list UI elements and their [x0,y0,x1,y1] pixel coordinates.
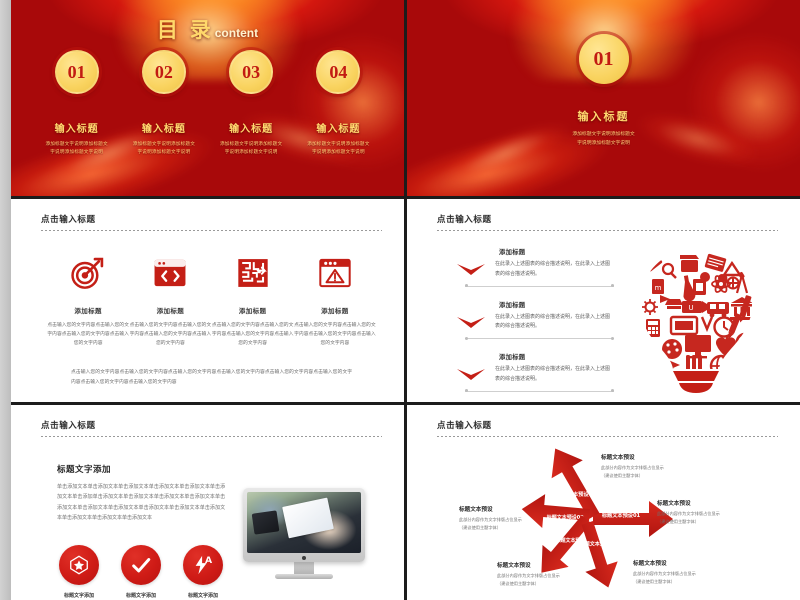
feature-circle-row: 标题文字添加 标题文字添加 [57,545,225,599]
left-gutter [0,0,11,600]
contents-item[interactable]: 02 输入标题 添加标题文字说明添加标题文 字说明添加标题文字说明 [125,50,203,157]
contents-item-title: 输入标题 [212,120,290,135]
business-meeting-photo [247,492,361,553]
heading-dotted-rule [41,436,382,437]
slide-heading: 点击输入标题 [41,419,382,431]
text-column: 标题文字添加 单击添加文本单击添加文本单击添加文本单击添加文本单击添加文本单击添… [41,463,225,599]
desktop-monitor-mockup [243,488,365,579]
monitor-slide-body: 标题文字添加 单击添加文本单击添加文本单击添加文本单击添加文本单击添加文本单击添… [41,463,382,599]
contents-item[interactable]: 03 输入标题 添加标题文字说明添加标题文 字说明添加标题文字说明 [212,50,290,157]
feature-label: 标题文字添加 [119,592,163,599]
radial-arrow-diagram: 标题文本预设01 标题文本预设02 标题文本预设03 [437,441,778,591]
contents-number-badge: 02 [142,50,186,94]
icon-card[interactable]: 添加标题 点击输入您的文字内容点击输入您的文字内容点击输入您的文字内容点击输入您… [294,255,376,348]
monitor-screen [243,488,365,562]
callout-desc: 此部分内容作为文字排版占位显示 （建议使用主题字体） [657,510,753,525]
slide-radial-arrows[interactable]: 点击输入标题 标题文本预设01 [407,405,800,600]
icon-card[interactable]: 添加标题 点击输入您的文字内容点击输入您的文字内容点击输入您的文字内容点击输入您… [47,255,129,348]
monitor-neck [294,562,314,574]
target-icon [47,255,129,291]
bullet-desc: 在此录入上述图表的综合描述说明，在此录入上述图表的综合描述说明。 [495,365,614,385]
contents-title: 目 录content [11,14,404,44]
contents-item[interactable]: 04 输入标题 添加标题文字说明添加标题文 字说明添加标题文字说明 [299,50,377,157]
bullet-desc: 在此录入上述图表的综合描述说明，在此录入上述图表的综合描述说明。 [495,313,614,333]
feature-item[interactable]: A 标题文字添加 [181,545,225,599]
arrow-label-2: 标题文本预设02 [557,490,597,498]
bullet-title: 添加标题 [499,352,614,361]
heading-dotted-rule [437,230,778,231]
callout-title: 标题文本预设 [657,499,753,507]
monitor-base [275,574,333,579]
bullet-title: 添加标题 [499,247,614,256]
icon-card-title: 添加标题 [47,305,129,315]
slide-grid: 目 录content 01 输入标题 添加标题文字说明添加标题文 字说明添加标题… [11,0,800,600]
callout-left[interactable]: 标题文本预设 此部分内容作为文字排版占位显示 （建议使用主题字体） [459,505,555,531]
callout-desc: 此部分内容作为文字排版占位显示 （建议使用主题字体） [601,464,697,479]
contents-item-desc: 添加标题文字说明添加标题文 字说明添加标题文字说明 [299,140,377,157]
contents-item-desc: 添加标题文字说明添加标题文 字说明添加标题文字说明 [38,140,116,157]
contents-title-cn: 目 录 [157,19,214,42]
contents-item-desc: 添加标题文字说明添加标题文 字说明添加标题文字说明 [125,140,203,157]
contents-title-en: content [215,26,258,40]
icon-card[interactable]: 添加标题 点击输入您的文字内容点击输入您的文字内容点击输入您的文字内容点击输入您… [129,255,211,348]
browser-warning-icon [294,255,376,291]
feature-item[interactable]: 标题文字添加 [57,545,101,599]
callout-title: 标题文本预设 [601,453,697,461]
callout-title: 标题文本预设 [633,559,729,567]
slide-section-divider[interactable]: 01 输入标题 添加标题文字说明添加标题文 字说明添加标题文字说明 [407,0,800,196]
slide-heading: 点击输入标题 [41,213,382,225]
contents-item-title: 输入标题 [38,120,116,135]
callout-desc: 此部分内容作为文字排版占位显示 （建议使用主题字体） [497,572,593,587]
bullet-divider [465,391,614,392]
lightbulb-slide-body: 添加标题 在此录入上述图表的综合描述说明，在此录入上述图表的综合描述说明。 [437,247,778,402]
svg-text:U: U [689,304,694,312]
chevron-down-icon [455,313,495,331]
contents-item[interactable]: 01 输入标题 添加标题文字说明添加标题文 字说明添加标题文字说明 [38,50,116,157]
svg-text:m: m [655,284,662,292]
bullet-list: 添加标题 在此录入上述图表的综合描述说明，在此录入上述图表的综合描述说明。 [437,247,614,402]
icon-card-desc: 点击输入您的文字内容点击输入您的文字内容点击输入您的文字内容点击输入您的文字内容 [47,321,129,348]
chevron-down-icon [455,365,495,383]
monitor-logo-dot [302,556,306,560]
bullet-item[interactable]: 添加标题 在此录入上述图表的综合描述说明，在此录入上述图表的综合描述说明。 [455,352,614,392]
heading-dotted-rule [41,230,382,231]
contents-item-desc: 添加标题文字说明添加标题文 字说明添加标题文字说明 [212,140,290,157]
callout-bottom-right[interactable]: 标题文本预设 此部分内容作为文字排版占位显示 （建议使用主题字体） [633,559,729,585]
section-desc: 添加标题文字说明添加标题文 字说明添加标题文字说明 [407,130,800,148]
star-badge-icon [59,545,99,585]
contents-items: 01 输入标题 添加标题文字说明添加标题文 字说明添加标题文字说明 02 输入标… [11,50,404,157]
section-title: 输入标题 [407,108,800,124]
feature-item[interactable]: 标题文字添加 [119,545,163,599]
bullet-item[interactable]: 添加标题 在此录入上述图表的综合描述说明，在此录入上述图表的综合描述说明。 [455,247,614,287]
slide-footer-paragraph: 点击输入您的文字内容点击输入您的文字内容点击输入您的文字内容点击输入您的文字内容… [41,368,382,387]
contents-number-badge: 01 [55,50,99,94]
callout-right[interactable]: 标题文本预设 此部分内容作为文字排版占位显示 （建议使用主题字体） [657,499,753,525]
contents-item-title: 输入标题 [125,120,203,135]
callout-top[interactable]: 标题文本预设 此部分内容作为文字排版占位显示 （建议使用主题字体） [601,453,697,479]
icon-card-title: 添加标题 [294,305,376,315]
flash-a-icon: A [183,545,223,585]
contents-item-title: 输入标题 [299,120,377,135]
bullet-desc: 在此录入上述图表的综合描述说明，在此录入上述图表的综合描述说明。 [495,260,614,280]
heading-dotted-rule [437,436,778,437]
svg-text:A: A [205,555,213,566]
arrow-label-1: 标题文本预设01 [601,511,641,519]
bullet-title: 添加标题 [499,300,614,309]
icon-card[interactable]: 添加标题 点击输入您的文字内容点击输入您的文字内容点击输入您的文字内容点击输入您… [212,255,294,348]
callout-desc: 此部分内容作为文字排版占位显示 （建议使用主题字体） [633,570,729,585]
section-body: 单击添加文本单击添加文本单击添加文本单击添加文本单击添加文本单击添加文本单击添加… [57,482,225,523]
section-number-badge: 01 [579,34,629,84]
slide-thumbnail-sheet: 目 录content 01 输入标题 添加标题文字说明添加标题文 字说明添加标题… [0,0,800,600]
callout-title: 标题文本预设 [459,505,555,513]
icon-card-title: 添加标题 [129,305,211,315]
slide-four-icons[interactable]: 点击输入标题 添 [11,199,404,402]
arrow-label-5: 标题文本预设05 [579,540,617,547]
maze-icon [212,255,294,291]
callout-title: 标题文本预设 [497,561,593,569]
icon-card-desc: 点击输入您的文字内容点击输入您的文字内容点击输入您的文字内容点击输入您的文字内容 [212,321,294,348]
feature-label: 标题文字添加 [181,592,225,599]
callout-desc: 此部分内容作为文字排版占位显示 （建议使用主题字体） [459,516,555,531]
feature-label: 标题文字添加 [57,592,101,599]
bullet-divider [465,338,614,339]
contents-number-badge: 03 [229,50,273,94]
bullet-item[interactable]: 添加标题 在此录入上述图表的综合描述说明，在此录入上述图表的综合描述说明。 [455,300,614,340]
slide-monitor-text[interactable]: 点击输入标题 标题文字添加 单击添加文本单击添加文本单击添加文本单击添加文本单击… [11,405,404,600]
slide-contents[interactable]: 目 录content 01 输入标题 添加标题文字说明添加标题文 字说明添加标题… [11,0,404,196]
bullet-divider [465,286,614,287]
icon-card-desc: 点击输入您的文字内容点击输入您的文字内容点击输入您的文字内容点击输入您的文字内容 [294,321,376,348]
section-block: 01 输入标题 添加标题文字说明添加标题文 字说明添加标题文字说明 [407,34,800,148]
chevron-down-icon [455,260,495,278]
section-title: 标题文字添加 [57,463,225,475]
icon-card-row: 添加标题 点击输入您的文字内容点击输入您的文字内容点击输入您的文字内容点击输入您… [41,255,382,348]
icon-card-desc: 点击输入您的文字内容点击输入您的文字内容点击输入您的文字内容点击输入您的文字内容 [129,321,211,348]
slide-lightbulb-list[interactable]: 点击输入标题 添加标题 在此录入上述图表的综合描述说明，在此录入上述图表的综合描… [407,199,800,402]
check-icon [121,545,161,585]
image-column [225,463,382,599]
icon-card-title: 添加标题 [212,305,294,315]
slide-heading: 点击输入标题 [437,419,778,431]
contents-number-badge: 04 [316,50,360,94]
lightbulb-education-icons-graphic: m U [614,247,778,402]
slide-heading: 点击输入标题 [437,213,778,225]
browser-arrows-icon [129,255,211,291]
callout-bottom-left[interactable]: 标题文本预设 此部分内容作为文字排版占位显示 （建议使用主题字体） [497,561,593,587]
